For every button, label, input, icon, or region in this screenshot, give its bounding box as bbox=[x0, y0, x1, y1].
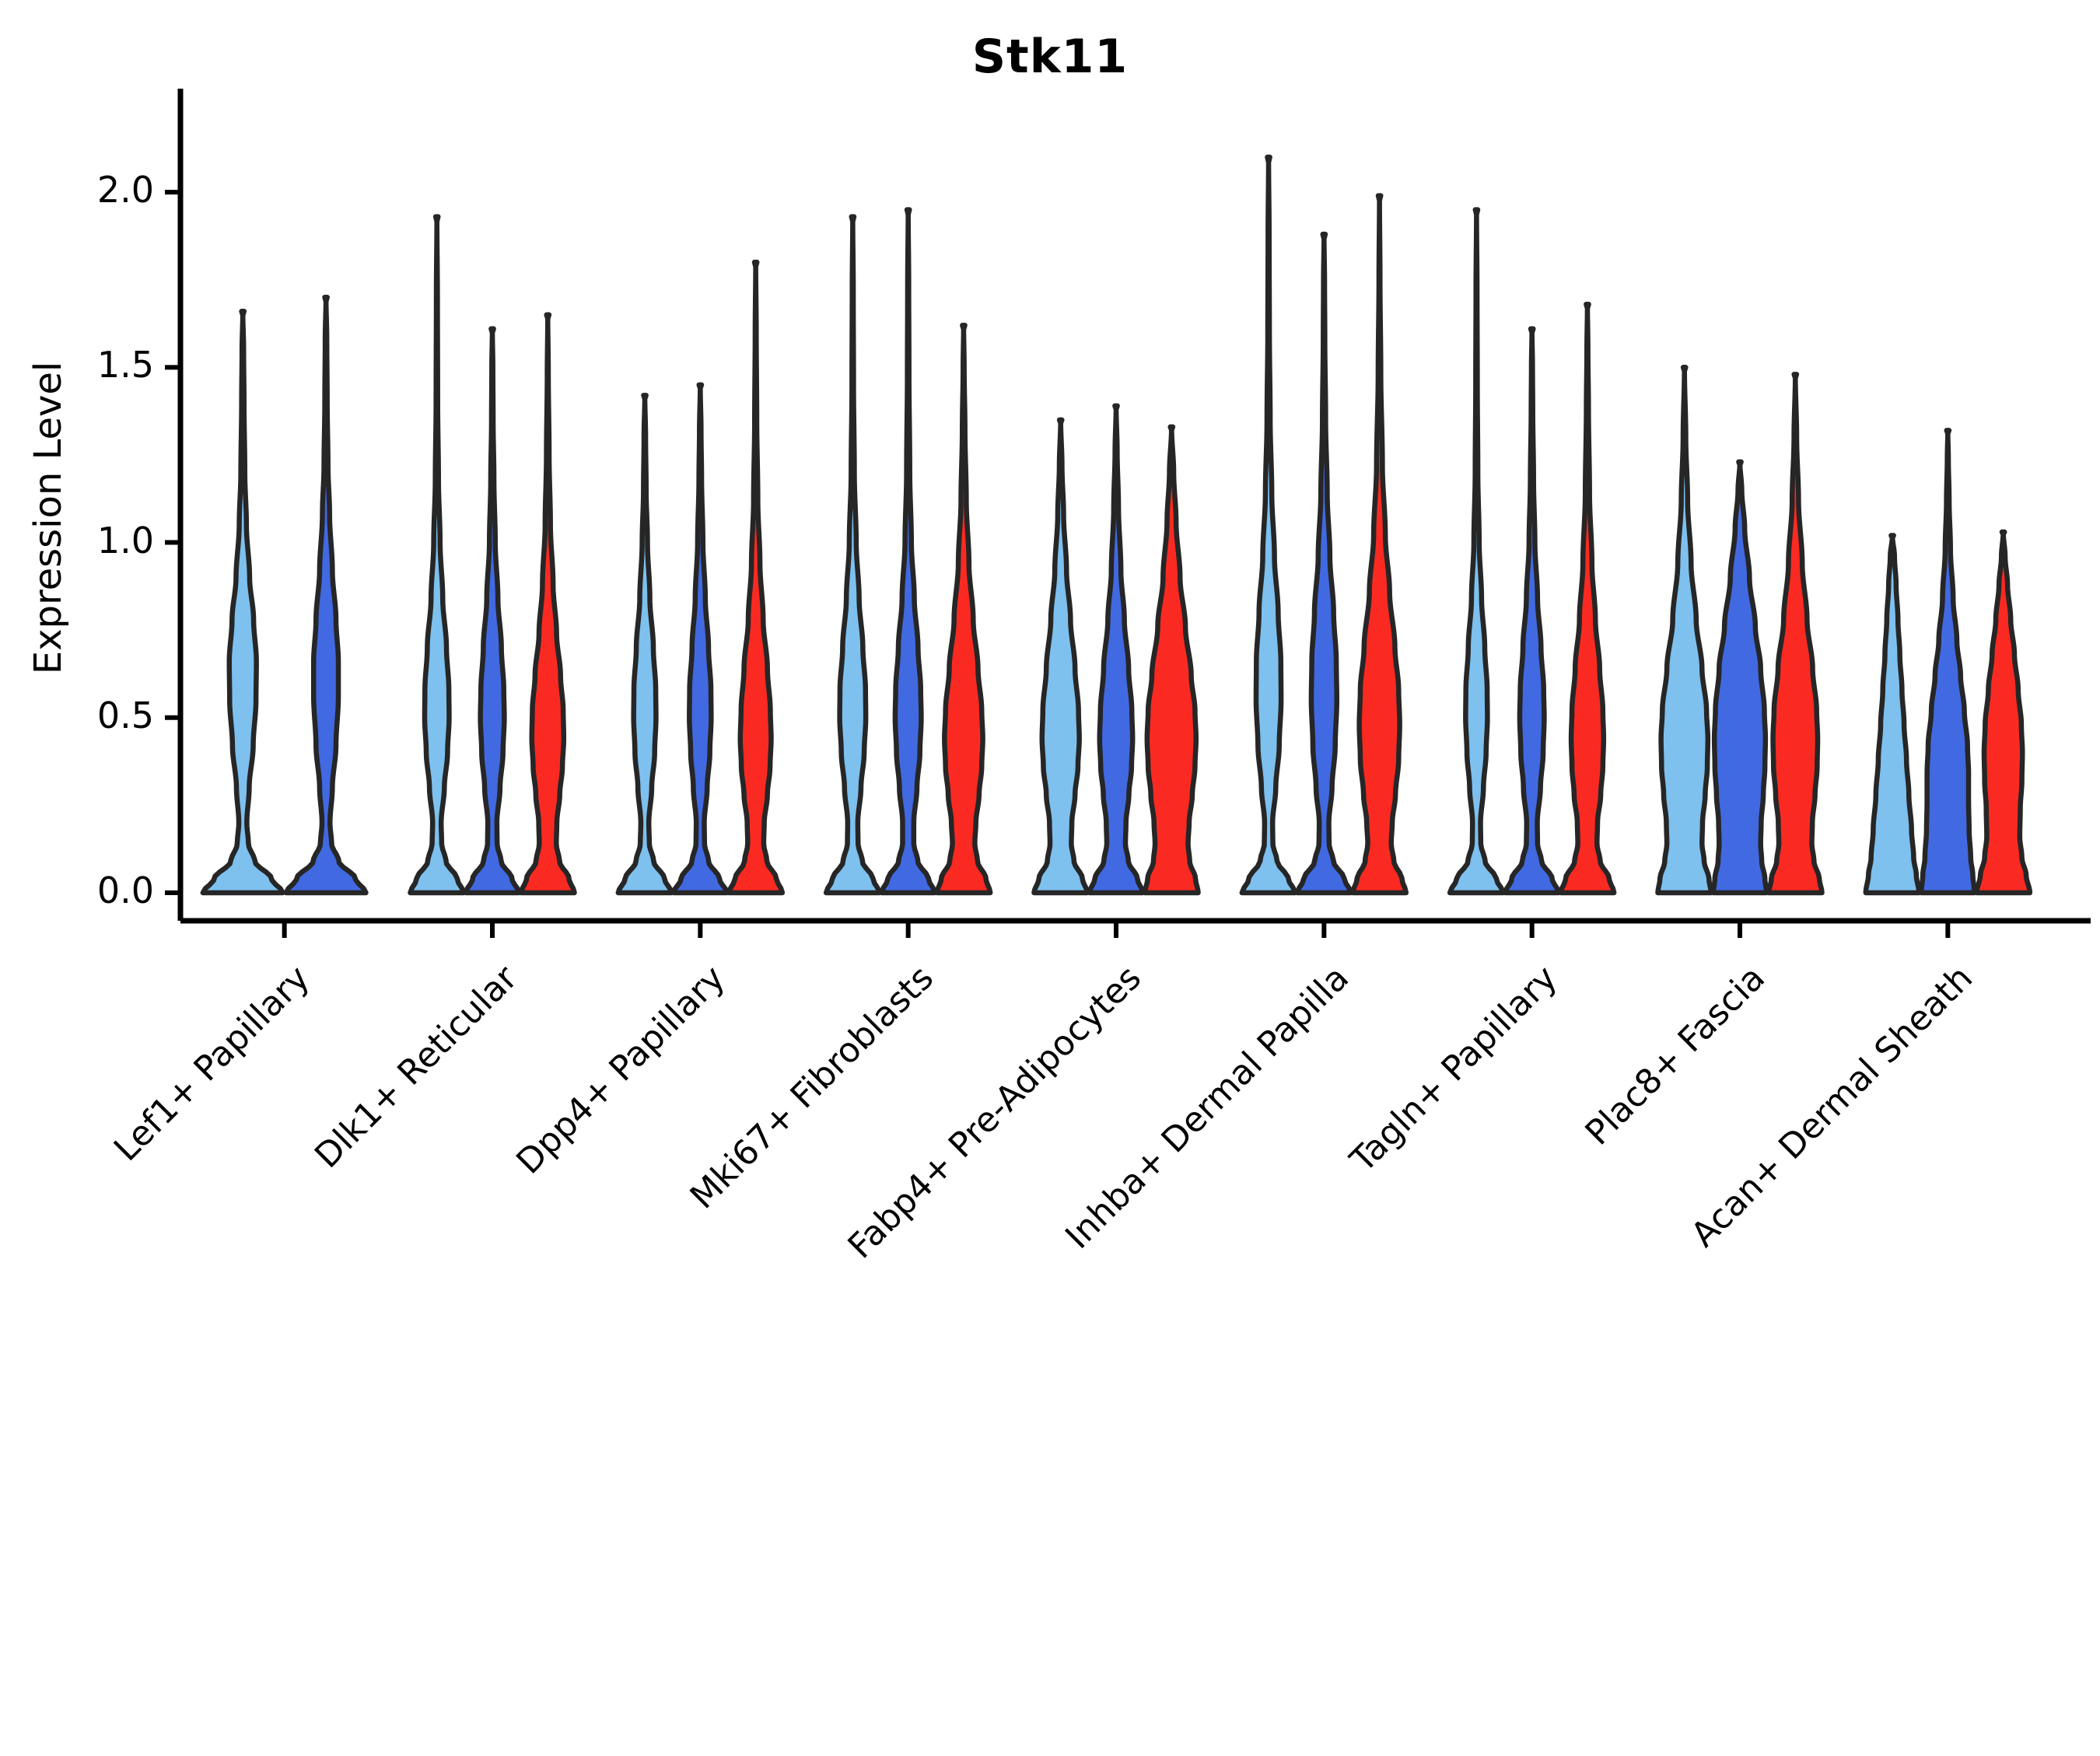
violin-shape[interactable] bbox=[1561, 304, 1614, 893]
violin-shape[interactable] bbox=[410, 217, 463, 893]
y-tick-label: 0.0 bbox=[97, 869, 154, 911]
violin-shape[interactable] bbox=[729, 262, 782, 893]
y-tick-label: 1.0 bbox=[97, 519, 154, 561]
violin-shape[interactable] bbox=[1921, 430, 1974, 893]
violin-shape[interactable] bbox=[1713, 462, 1766, 893]
violin-shape[interactable] bbox=[1976, 532, 2029, 893]
violin-shape[interactable] bbox=[674, 385, 726, 893]
violin-shape[interactable] bbox=[1034, 420, 1087, 893]
violin-plot-figure: Stk11 Expression Level 0.00.51.01.52.0 L… bbox=[0, 0, 2100, 1400]
violin-shape[interactable] bbox=[1769, 374, 1822, 893]
y-tick-label: 2.0 bbox=[97, 169, 154, 211]
violin-shape[interactable] bbox=[1450, 210, 1503, 893]
violin-shape[interactable] bbox=[1242, 157, 1295, 893]
violin-shape[interactable] bbox=[1297, 234, 1350, 893]
violin-shape[interactable] bbox=[286, 297, 366, 893]
violin-shape[interactable] bbox=[1866, 536, 1919, 893]
violin-shape[interactable] bbox=[1090, 406, 1143, 893]
violin-shape[interactable] bbox=[1505, 329, 1558, 893]
violins-layer bbox=[203, 157, 2030, 893]
violin-shape[interactable] bbox=[618, 395, 671, 893]
violin-shape[interactable] bbox=[521, 315, 574, 893]
violin-shape[interactable] bbox=[826, 217, 879, 893]
y-axis-label: Expression Level bbox=[26, 362, 70, 675]
violin-shape[interactable] bbox=[1657, 367, 1710, 893]
violin-shape[interactable] bbox=[1353, 196, 1405, 893]
violin-shape[interactable] bbox=[937, 325, 990, 893]
violin-shape[interactable] bbox=[466, 329, 519, 893]
violin-shape[interactable] bbox=[881, 210, 934, 893]
violin-shape[interactable] bbox=[1145, 427, 1198, 893]
y-tick-label: 1.5 bbox=[97, 344, 154, 386]
violin-shape[interactable] bbox=[203, 311, 283, 893]
y-tick-label: 0.5 bbox=[97, 694, 154, 736]
